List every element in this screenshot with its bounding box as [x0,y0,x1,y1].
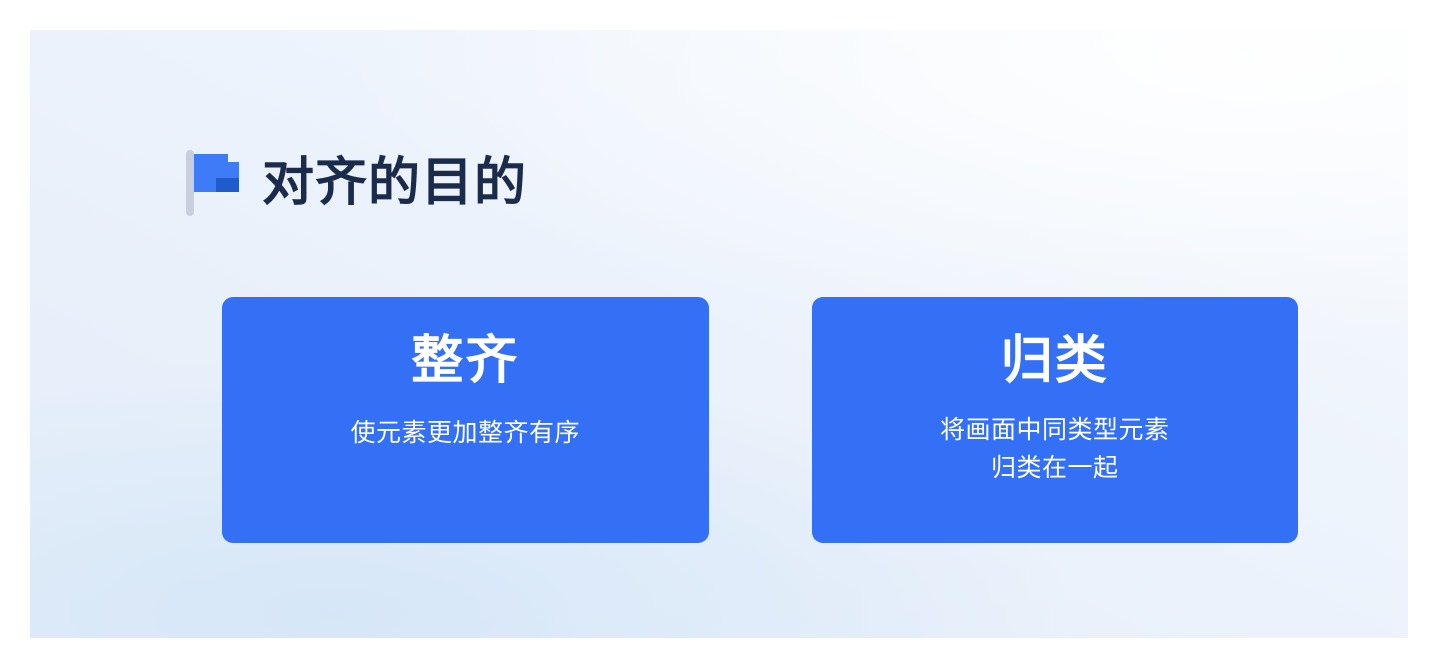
slide-header: 对齐的目的 [182,148,527,218]
card-subtitle: 将画面中同类型元素 归类在一起 [940,412,1170,487]
page-title: 对齐的目的 [262,157,527,209]
card-heading: 整齐 [411,333,519,389]
card-guilei[interactable]: 归类 将画面中同类型元素 归类在一起 [812,297,1299,543]
slide-panel: 对齐的目的 整齐 使元素更加整齐有序 归类 将画面中同类型元素 归类在一起 [30,30,1408,638]
card-zhengqi[interactable]: 整齐 使元素更加整齐有序 [222,297,709,543]
slide-root: 对齐的目的 整齐 使元素更加整齐有序 归类 将画面中同类型元素 归类在一起 [0,0,1436,662]
flag-icon [182,148,244,218]
cards-row: 整齐 使元素更加整齐有序 归类 将画面中同类型元素 归类在一起 [222,297,1298,543]
card-heading: 归类 [1001,333,1109,389]
card-subtitle: 使元素更加整齐有序 [350,415,580,453]
